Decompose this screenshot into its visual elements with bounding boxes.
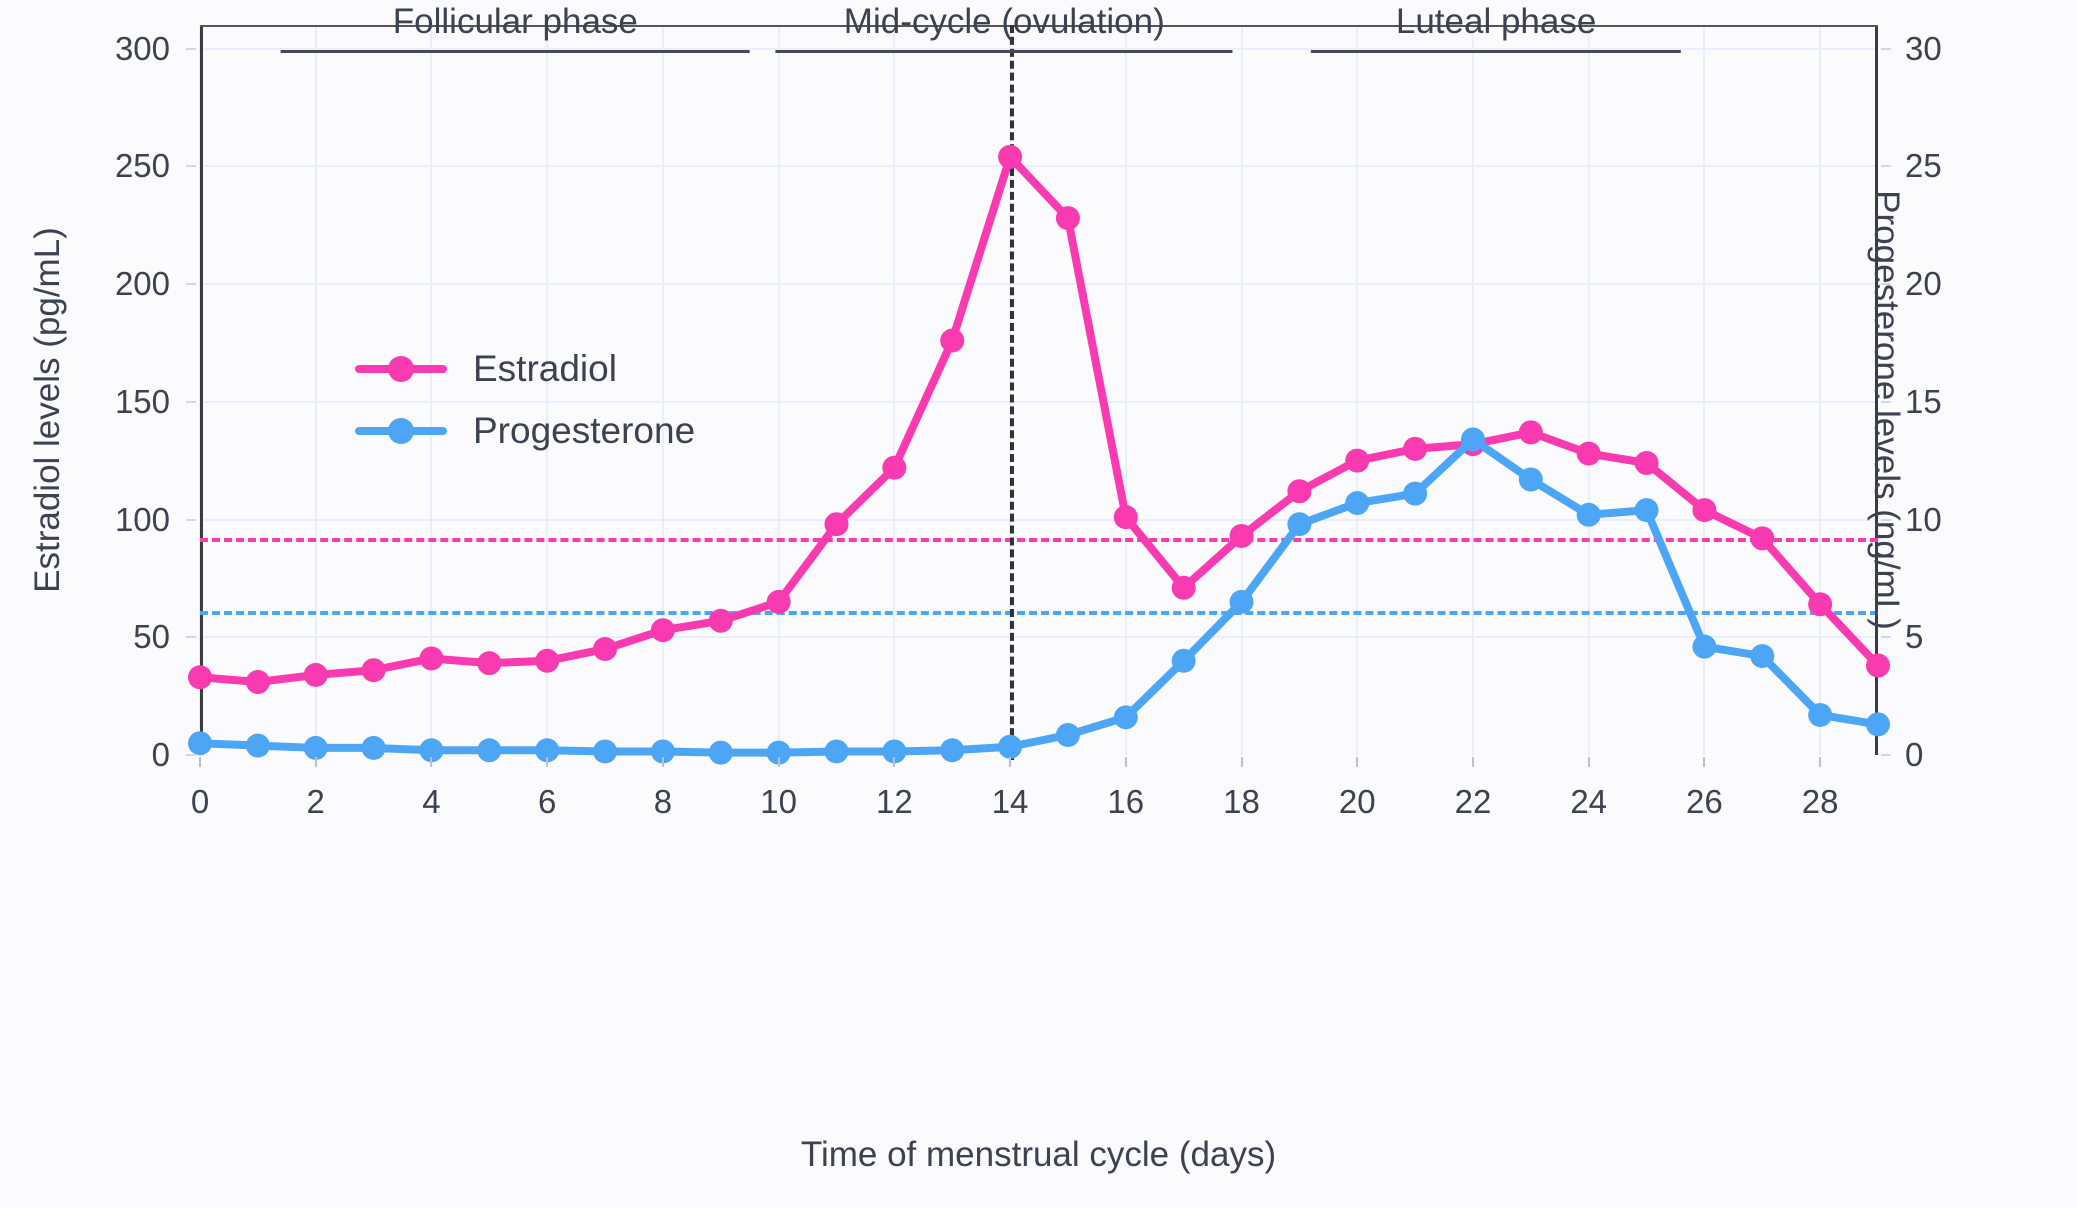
chart-legend: EstradiolProgesterone <box>355 338 695 462</box>
data-point <box>767 590 791 614</box>
phase-label: Luteal phase <box>1311 4 1681 41</box>
data-point <box>998 145 1022 169</box>
y-axis-right-title: Progesterone levels (ng/mL) <box>1866 100 1906 720</box>
data-point <box>882 456 906 480</box>
data-point <box>998 735 1022 759</box>
y-axis-right-tick: 20 <box>1905 265 2015 303</box>
x-axis-tickmark <box>199 757 201 767</box>
x-axis-tick: 22 <box>1455 783 1492 821</box>
y-axis-left-tick: 200 <box>60 265 170 303</box>
x-axis-tick: 24 <box>1570 783 1607 821</box>
legend-swatch <box>355 365 447 373</box>
y-axis-left-tick: 150 <box>60 383 170 421</box>
y-axis-left-title: Estradiol levels (pg/mL) <box>28 100 68 720</box>
data-point <box>824 739 848 763</box>
phase-annotation: Follicular phase <box>281 4 750 54</box>
data-point <box>1577 442 1601 466</box>
x-axis-tick: 18 <box>1223 783 1260 821</box>
data-point <box>477 651 501 675</box>
x-axis-tick: 8 <box>654 783 672 821</box>
y-axis-left-tickmark <box>186 401 196 403</box>
y-axis-right-tick: 25 <box>1905 147 2015 185</box>
legend-item[interactable]: Progesterone <box>355 400 695 462</box>
x-axis-tickmark <box>778 757 780 767</box>
chart-page: Follicular phaseMid-cycle (ovulation)Lut… <box>0 0 2077 1208</box>
phase-label: Follicular phase <box>281 4 750 41</box>
y-axis-left-tickmark <box>186 754 196 756</box>
data-point <box>362 658 386 682</box>
y-axis-left-tick: 100 <box>60 501 170 539</box>
data-point <box>1345 449 1369 473</box>
x-axis-tick: 6 <box>538 783 556 821</box>
data-point <box>1114 705 1138 729</box>
x-axis-tick: 2 <box>307 783 325 821</box>
data-point <box>535 649 559 673</box>
data-point <box>1635 451 1659 475</box>
data-point <box>940 329 964 353</box>
data-point <box>940 738 964 762</box>
data-point <box>1230 590 1254 614</box>
data-point <box>1692 498 1716 522</box>
phase-underline <box>1311 50 1681 53</box>
y-axis-right-tick: 30 <box>1905 30 2015 68</box>
x-axis-tick: 0 <box>191 783 209 821</box>
y-axis-right-tickmark <box>1881 754 1891 756</box>
legend-marker-dot <box>388 356 414 382</box>
data-point <box>1808 703 1832 727</box>
y-axis-right-tick: 10 <box>1905 501 2015 539</box>
y-axis-left-tick: 50 <box>60 618 170 656</box>
data-point <box>1461 427 1485 451</box>
y-axis-left-tick: 0 <box>60 736 170 774</box>
phase-label: Mid-cycle (ovulation) <box>776 4 1233 41</box>
y-axis-left-tick: 250 <box>60 147 170 185</box>
phase-underline <box>281 50 750 53</box>
phase-annotation: Mid-cycle (ovulation) <box>776 4 1233 54</box>
x-axis-tick: 16 <box>1107 783 1144 821</box>
y-axis-right-tickmark <box>1881 48 1891 50</box>
data-point <box>1345 491 1369 515</box>
data-point <box>1287 512 1311 536</box>
data-point <box>188 665 212 689</box>
x-axis-tickmark <box>1472 757 1474 767</box>
data-point <box>1114 505 1138 529</box>
data-point <box>1577 503 1601 527</box>
x-axis-tickmark <box>893 757 895 767</box>
x-axis-tickmark <box>430 757 432 767</box>
data-point <box>477 738 501 762</box>
data-point <box>246 734 270 758</box>
y-axis-left-tickmark <box>186 519 196 521</box>
data-point <box>709 741 733 765</box>
y-axis-left-tickmark <box>186 165 196 167</box>
legend-label: Progesterone <box>473 410 695 452</box>
x-axis-tick: 14 <box>992 783 1029 821</box>
data-point <box>304 663 328 687</box>
data-point <box>419 646 443 670</box>
data-point <box>362 736 386 760</box>
data-point <box>1172 576 1196 600</box>
x-axis-tickmark <box>1241 757 1243 767</box>
x-axis-tickmark <box>1356 757 1358 767</box>
data-point <box>1056 723 1080 747</box>
x-axis-tickmark <box>315 757 317 767</box>
y-axis-left-tickmark <box>186 283 196 285</box>
data-point <box>1750 526 1774 550</box>
phase-annotation: Luteal phase <box>1311 4 1681 54</box>
data-point <box>593 739 617 763</box>
x-axis-tickmark <box>1125 757 1127 767</box>
data-point <box>1519 420 1543 444</box>
data-point <box>1635 498 1659 522</box>
data-point <box>1056 206 1080 230</box>
series-line-progesterone <box>200 439 1878 752</box>
data-point <box>1808 592 1832 616</box>
data-point <box>651 618 675 642</box>
y-axis-right-tick: 5 <box>1905 618 2015 656</box>
data-point <box>824 512 848 536</box>
data-point <box>1230 524 1254 548</box>
data-point <box>1403 437 1427 461</box>
phase-underline <box>776 50 1233 53</box>
data-point <box>709 609 733 633</box>
data-point <box>188 731 212 755</box>
x-axis-tickmark <box>1703 757 1705 767</box>
data-point <box>1519 467 1543 491</box>
x-axis-tick: 4 <box>422 783 440 821</box>
x-axis-tickmark <box>1009 757 1011 767</box>
x-axis-tickmark <box>1819 757 1821 767</box>
x-axis-title: Time of menstrual cycle (days) <box>0 1135 2077 1175</box>
data-point <box>1692 635 1716 659</box>
data-point <box>593 637 617 661</box>
data-point <box>246 670 270 694</box>
legend-item[interactable]: Estradiol <box>355 338 695 400</box>
y-axis-left-tickmark <box>186 48 196 50</box>
x-axis-tick: 28 <box>1802 783 1839 821</box>
x-axis-tickmark <box>1588 757 1590 767</box>
x-axis-tickmark <box>546 757 548 767</box>
x-axis-tick: 20 <box>1339 783 1376 821</box>
x-axis-tick: 26 <box>1686 783 1723 821</box>
y-axis-right-tick: 15 <box>1905 383 2015 421</box>
x-axis-tick: 10 <box>760 783 797 821</box>
x-axis-tick: 12 <box>876 783 913 821</box>
data-point <box>1750 644 1774 668</box>
legend-swatch <box>355 427 447 435</box>
x-axis-tickmark <box>662 757 664 767</box>
y-axis-right-tick: 0 <box>1905 736 2015 774</box>
data-point <box>1403 482 1427 506</box>
data-point <box>1287 479 1311 503</box>
y-axis-left-tickmark <box>186 636 196 638</box>
legend-marker-dot <box>388 418 414 444</box>
legend-label: Estradiol <box>473 348 617 390</box>
data-point <box>1172 649 1196 673</box>
y-axis-left-tick: 300 <box>60 30 170 68</box>
